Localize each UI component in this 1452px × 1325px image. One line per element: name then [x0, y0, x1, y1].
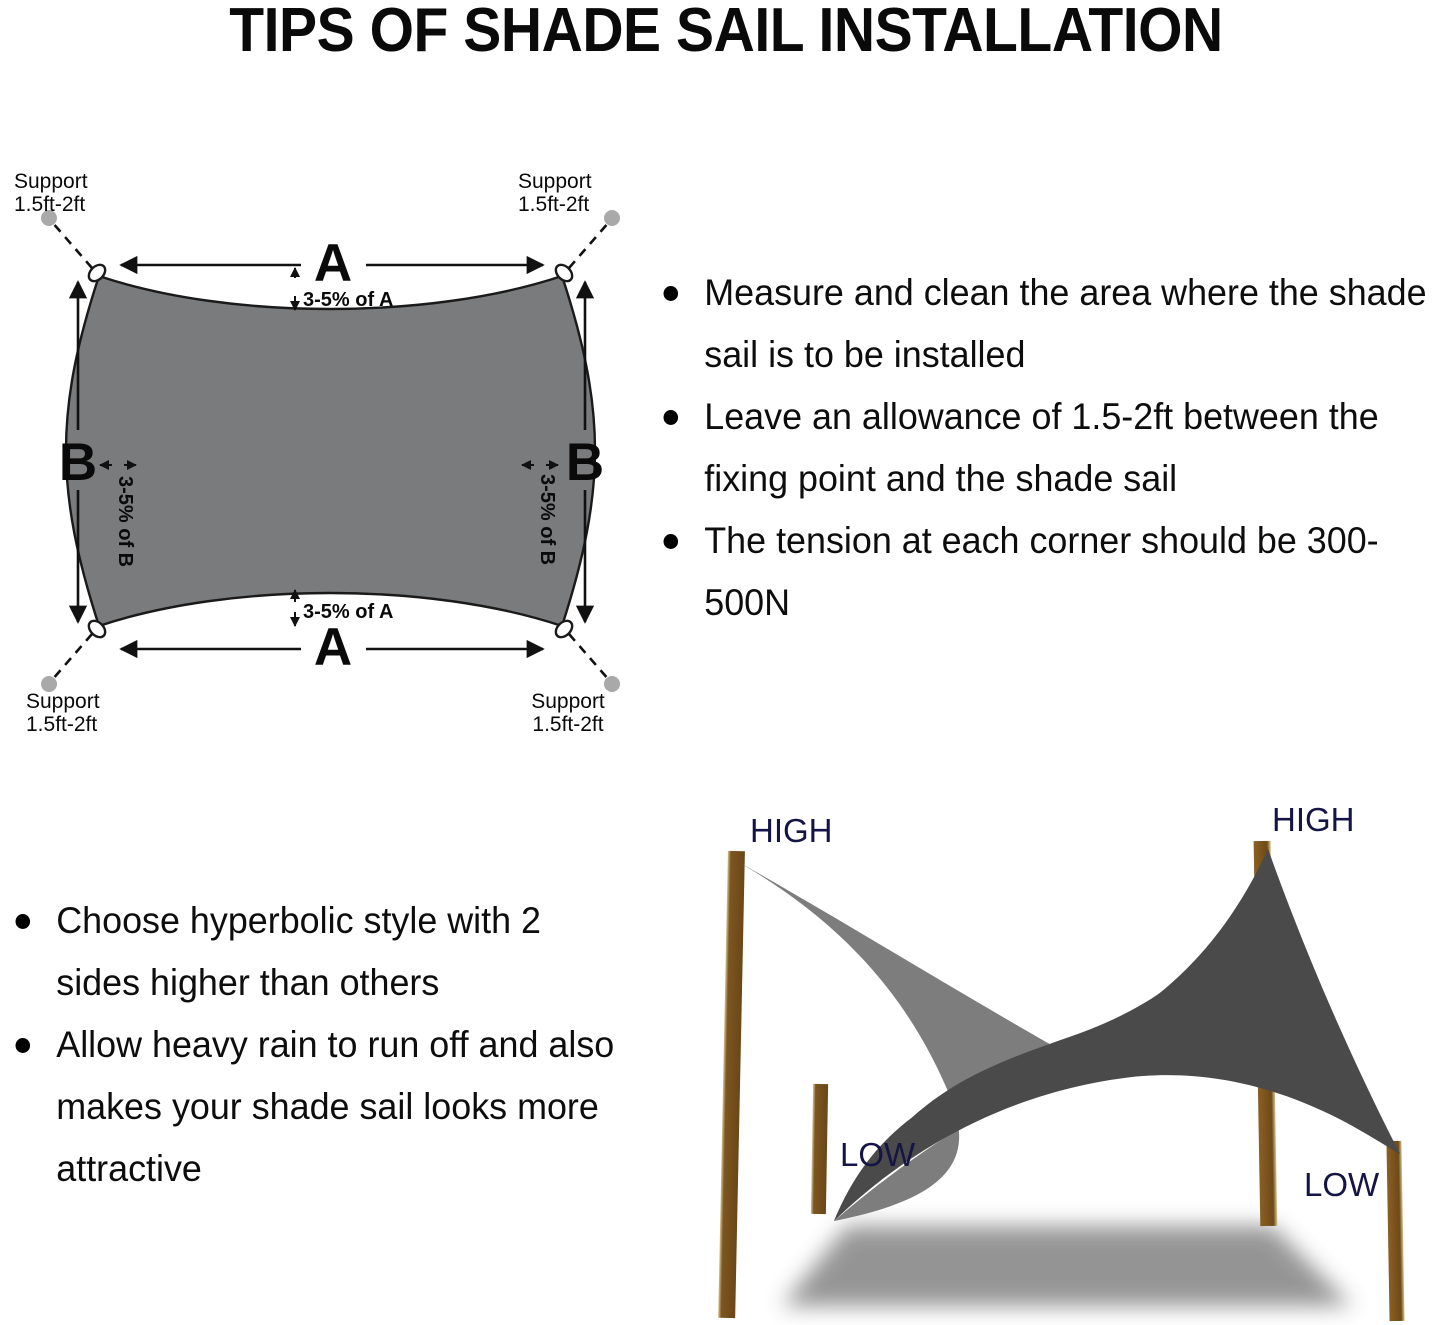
support-label-top-right-line1: Support: [518, 170, 592, 193]
list-item: Allow heavy rain to run off and also mak…: [0, 1014, 621, 1200]
list-item-label: Choose hyperbolic style with 2 sides hig…: [56, 900, 541, 1003]
support-dot-bottom-right: [604, 676, 620, 692]
list-item: The tension at each corner should be 300…: [648, 510, 1436, 634]
label-high-right: HIGH: [1272, 801, 1355, 838]
list-item: Leave an allowance of 1.5-2ft between th…: [648, 386, 1436, 510]
infographic-page: TIPS OF SHADE SAIL INSTALLATION: [0, 0, 1452, 1325]
hyperbolic-tips-panel: Choose hyperbolic style with 2 sides hig…: [0, 890, 640, 1200]
bullet-icon: [664, 286, 679, 301]
support-leader-top-right: [569, 222, 609, 268]
installation-tips-list: Measure and clean the area where the sha…: [648, 262, 1452, 634]
support-label-bottom-left-line1: Support: [26, 690, 100, 713]
page-title: TIPS OF SHADE SAIL INSTALLATION: [58, 0, 1394, 66]
support-label-top-left-line2: 1.5ft-2ft: [14, 193, 85, 216]
list-item: Measure and clean the area where the sha…: [648, 262, 1436, 386]
support-dot-top-right: [604, 210, 620, 226]
hyperbolic-tips-list: Choose hyperbolic style with 2 sides hig…: [0, 890, 640, 1200]
support-label-top-right-line2: 1.5ft-2ft: [518, 193, 589, 216]
label-low-right: LOW: [1304, 1166, 1380, 1203]
dimension-label-top-A: A: [314, 234, 352, 293]
sag-label-bottom: 3-5% of A: [303, 601, 393, 623]
post-front-right: [1386, 1141, 1404, 1321]
dimension-label-bottom-A: A: [314, 618, 352, 677]
support-label-bottom-right-line2: 1.5ft-2ft: [532, 713, 603, 736]
support-leader-bottom-right: [569, 634, 609, 680]
bullet-icon: [16, 914, 31, 929]
list-item-label: Measure and clean the area where the sha…: [704, 272, 1426, 375]
label-high-left: HIGH: [750, 812, 833, 849]
list-item: Choose hyperbolic style with 2 sides hig…: [0, 890, 621, 1014]
list-item-label: Leave an allowance of 1.5-2ft between th…: [704, 396, 1378, 499]
support-label-bottom-left-line2: 1.5ft-2ft: [26, 713, 97, 736]
hyperbolic-sail-illustration: HIGH HIGH LOW LOW: [672, 796, 1452, 1325]
dimension-label-right-B: B: [566, 433, 604, 492]
support-label-top-left-line1: Support: [14, 170, 88, 193]
sag-label-top: 3-5% of A: [303, 289, 393, 311]
label-low-left: LOW: [840, 1136, 916, 1173]
support-leader-top-left: [52, 222, 92, 268]
list-item-label: Allow heavy rain to run off and also mak…: [56, 1024, 614, 1189]
installation-tips-panel: Measure and clean the area where the sha…: [648, 262, 1452, 634]
bullet-icon: [664, 410, 679, 425]
post-front-left: [811, 1084, 828, 1214]
rectangle-sail-diagram: Support 1.5ft-2ft Support 1.5ft-2ft Supp…: [0, 160, 660, 740]
bullet-icon: [16, 1038, 31, 1053]
support-leader-bottom-left: [52, 634, 92, 680]
post-back-left: [718, 851, 745, 1318]
support-label-bottom-right-line1: Support: [531, 690, 605, 713]
ground-shadow: [782, 1226, 1352, 1306]
bullet-icon: [664, 534, 679, 549]
sail-body: [66, 276, 595, 626]
sag-label-left: 3-5% of B: [114, 476, 136, 567]
dimension-label-left-B: B: [59, 433, 97, 492]
list-item-label: The tension at each corner should be 300…: [704, 520, 1378, 623]
sag-label-right: 3-5% of B: [536, 474, 558, 565]
dimension-top-A: A: [121, 234, 543, 293]
dimension-bottom-A: A: [121, 618, 543, 677]
